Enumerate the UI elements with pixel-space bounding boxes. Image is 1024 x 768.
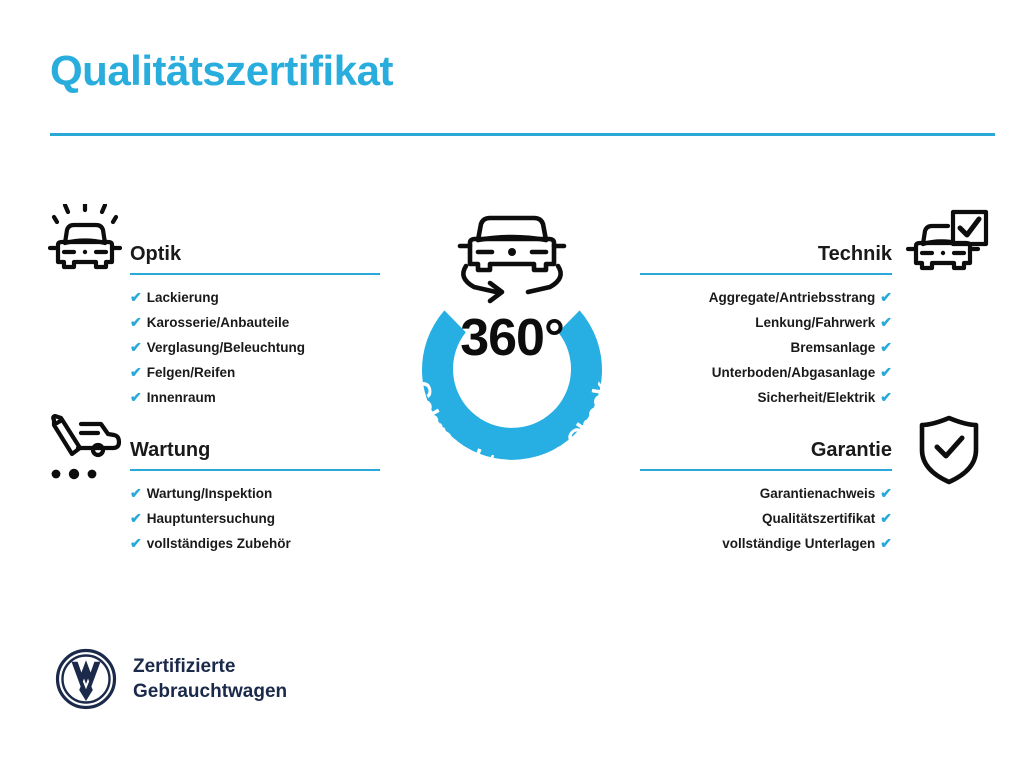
checklist-item-label: vollständige Unterlagen <box>722 536 875 551</box>
checklist-item: Garantienachweis✔ <box>640 481 892 506</box>
check-icon: ✔ <box>130 535 142 551</box>
section-optik-divider <box>130 273 380 275</box>
section-technik-list: Aggregate/Antriebsstrang✔Lenkung/Fahrwer… <box>640 285 892 410</box>
section-wartung-divider <box>130 469 380 471</box>
checklist-item-label: Unterboden/Abgasanlage <box>712 365 876 380</box>
checklist-item: Lenkung/Fahrwerk✔ <box>640 310 892 335</box>
checklist-item: ✔Lackierung <box>130 285 380 310</box>
section-garantie-header: Garantie <box>640 437 892 471</box>
checklist-item: Aggregate/Antriebsstrang✔ <box>640 285 892 310</box>
checklist-item-label: Verglasung/Beleuchtung <box>147 340 305 355</box>
checklist-item: Bremsanlage✔ <box>640 335 892 360</box>
section-wartung-list: ✔Wartung/Inspektion✔Hauptuntersuchung✔vo… <box>130 481 380 556</box>
section-wartung: Wartung ✔Wartung/Inspektion✔Hauptuntersu… <box>130 437 380 556</box>
checklist-item-label: Bremsanlage <box>790 340 875 355</box>
checklist-item: Sicherheit/Elektrik✔ <box>640 385 892 410</box>
checklist-item-label: Sicherheit/Elektrik <box>757 390 875 405</box>
check-icon: ✔ <box>130 485 142 501</box>
check-icon: ✔ <box>880 535 892 551</box>
checklist-item: ✔Wartung/Inspektion <box>130 481 380 506</box>
section-technik: Technik Aggregate/Antriebsstrang✔Lenkung… <box>640 241 892 410</box>
checklist-item: ✔vollständiges Zubehör <box>130 531 380 556</box>
car-rotate-icon <box>460 218 564 301</box>
section-optik-title: Optik <box>130 241 380 267</box>
check-icon: ✔ <box>130 289 142 305</box>
shield-check-icon <box>918 414 980 486</box>
section-optik-header: Optik <box>130 241 380 275</box>
certificate-page: Qualitätszertifikat <box>0 0 1024 768</box>
checklist-item-label: Innenraum <box>147 390 216 405</box>
checklist-item: ✔Hauptuntersuchung <box>130 506 380 531</box>
checklist-item: ✔Karosserie/Anbauteile <box>130 310 380 335</box>
section-wartung-title: Wartung <box>130 437 380 463</box>
checklist-item-label: vollständiges Zubehör <box>147 536 291 551</box>
car-shine-icon <box>46 204 124 276</box>
checklist-item-label: Wartung/Inspektion <box>147 486 273 501</box>
section-wartung-header: Wartung <box>130 437 380 471</box>
checklist-item-label: Lackierung <box>147 290 219 305</box>
checklist-item: ✔Innenraum <box>130 385 380 410</box>
car-service-tool-icon <box>46 414 124 482</box>
checklist-item: Qualitätszertifikat✔ <box>640 506 892 531</box>
check-icon: ✔ <box>880 364 892 380</box>
vw-logo-icon <box>55 648 117 710</box>
section-optik: Optik ✔Lackierung✔Karosserie/Anbauteile✔… <box>130 241 380 410</box>
checklist-item-label: Hauptuntersuchung <box>147 511 275 526</box>
check-icon: ✔ <box>880 314 892 330</box>
check-icon: ✔ <box>880 510 892 526</box>
check-icon: ✔ <box>130 339 142 355</box>
checklist-item: Unterboden/Abgasanlage✔ <box>640 360 892 385</box>
section-garantie: Garantie Garantienachweis✔Qualitätszerti… <box>640 437 892 556</box>
check-icon: ✔ <box>880 339 892 355</box>
section-technik-header: Technik <box>640 241 892 275</box>
check-icon: ✔ <box>880 485 892 501</box>
section-technik-title: Technik <box>640 241 892 267</box>
check-icon: ✔ <box>130 364 142 380</box>
vw-logo-wordmark: Zertifizierte Gebrauchtwagen <box>133 654 287 704</box>
section-garantie-title: Garantie <box>640 437 892 463</box>
checklist-item-label: Garantienachweis <box>760 486 876 501</box>
check-icon: ✔ <box>130 389 142 405</box>
section-technik-divider <box>640 273 892 275</box>
checklist-item-label: Aggregate/Antriebsstrang <box>709 290 876 305</box>
section-optik-list: ✔Lackierung✔Karosserie/Anbauteile✔Vergla… <box>130 285 380 410</box>
check-icon: ✔ <box>880 289 892 305</box>
check-icon: ✔ <box>130 510 142 526</box>
page-title: Qualitätszertifikat <box>50 50 393 92</box>
checklist-item: ✔Felgen/Reifen <box>130 360 380 385</box>
checklist-item-label: Karosserie/Anbauteile <box>147 315 290 330</box>
title-divider <box>50 133 995 136</box>
car-checkbox-icon <box>906 208 990 280</box>
checklist-item: ✔Verglasung/Beleuchtung <box>130 335 380 360</box>
check-icon: ✔ <box>880 389 892 405</box>
gebrauchtwagen-check-badge: Gebrauchtwagen-Check 360° <box>378 196 646 496</box>
section-garantie-list: Garantienachweis✔Qualitätszertifikat✔vol… <box>640 481 892 556</box>
vw-logo-line1: Zertifizierte <box>133 654 287 679</box>
checklist-item-label: Qualitätszertifikat <box>762 511 875 526</box>
section-garantie-divider <box>640 469 892 471</box>
vw-certified-logo: Zertifizierte Gebrauchtwagen <box>55 648 287 710</box>
checklist-item-label: Felgen/Reifen <box>147 365 236 380</box>
checklist-item-label: Lenkung/Fahrwerk <box>755 315 875 330</box>
check-icon: ✔ <box>130 314 142 330</box>
vw-logo-line2: Gebrauchtwagen <box>133 679 287 704</box>
checklist-item: vollständige Unterlagen✔ <box>640 531 892 556</box>
